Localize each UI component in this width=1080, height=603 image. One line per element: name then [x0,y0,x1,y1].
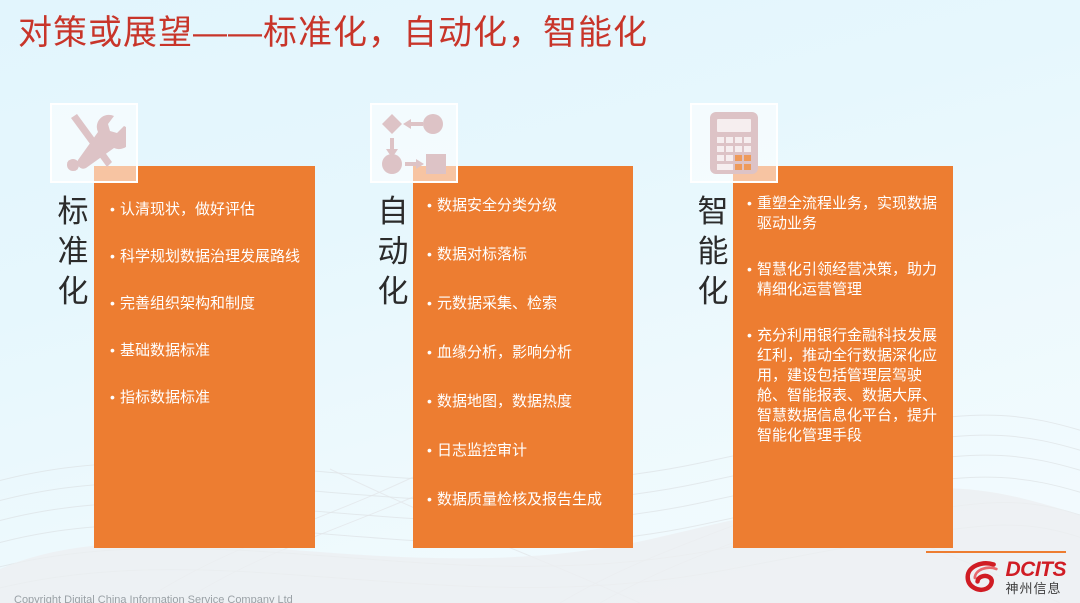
flowchart-icon [381,112,447,174]
bullet-item: 数据安全分类分级 [427,196,621,216]
logo-text-en: DCITS [1006,559,1067,580]
bullet-item: 认清现状，做好评估 [110,200,301,220]
column-label-char: 化 [372,272,414,312]
logo-text-cn: 神州信息 [1006,582,1067,595]
footer-divider [926,551,1066,553]
tools-wrench-screwdriver-icon [62,112,126,174]
slide-canvas: 对策或展望——标准化，自动化，智能化 标 准 化 认清现状，做好评估 [0,0,1080,603]
column-label-char: 标 [52,192,94,232]
bullet-list-intelligence: 重塑全流程业务，实现数据驱动业务 智慧化引领经营决策，助力精细化运营管理 充分利… [733,166,953,446]
column-label-char: 智 [692,192,734,232]
bullet-item: 血缘分析，影响分析 [427,343,621,363]
dcits-swirl-logo-icon [964,560,1000,594]
column-label-char: 自 [372,192,414,232]
bullet-item: 智慧化引领经营决策，助力精细化运营管理 [747,260,941,300]
bullet-item: 重塑全流程业务，实现数据驱动业务 [747,194,941,234]
bullet-item: 充分利用银行金融科技发展红利，推动全行数据深化应用，建设包括管理层驾驶舱、智能报… [747,326,941,446]
column-label-char: 化 [692,272,734,312]
column-label-char: 能 [692,232,734,272]
bullet-item: 数据对标落标 [427,245,621,265]
copyright-text: Copyright Digital China Information Serv… [14,594,293,603]
panel-automation: 数据安全分类分级 数据对标落标 元数据采集、检索 血缘分析，影响分析 数据地图，… [413,166,633,548]
bullet-item: 完善组织架构和制度 [110,294,301,314]
column-label-automation: 自 动 化 [372,192,414,312]
bullet-item: 数据质量检核及报告生成 [427,490,621,510]
calculator-icon [709,111,759,175]
bullet-item: 指标数据标准 [110,388,301,408]
column-label-char: 动 [372,232,414,272]
calculator-icon-box [690,103,778,183]
bullet-item: 基础数据标准 [110,341,301,361]
bullet-item: 日志监控审计 [427,441,621,461]
dcits-logo: DCITS 神州信息 [964,557,1067,597]
bullet-list-automation: 数据安全分类分级 数据对标落标 元数据采集、检索 血缘分析，影响分析 数据地图，… [413,166,633,510]
bullet-item: 数据地图，数据热度 [427,392,621,412]
panel-intelligence: 重塑全流程业务，实现数据驱动业务 智慧化引领经营决策，助力精细化运营管理 充分利… [733,166,953,548]
column-label-char: 化 [52,272,94,312]
bullet-item: 科学规划数据治理发展路线 [110,247,301,267]
column-label-char: 准 [52,232,94,272]
column-label-intelligence: 智 能 化 [692,192,734,312]
bullet-item: 元数据采集、检索 [427,294,621,314]
flowchart-icon-box [370,103,458,183]
panel-standardization: 认清现状，做好评估 科学规划数据治理发展路线 完善组织架构和制度 基础数据标准 … [94,166,315,548]
column-label-standardization: 标 准 化 [52,192,94,312]
tools-wrench-screwdriver-icon-box [50,103,138,183]
bullet-list-standardization: 认清现状，做好评估 科学规划数据治理发展路线 完善组织架构和制度 基础数据标准 … [94,166,315,408]
page-title: 对策或展望——标准化，自动化，智能化 [18,12,648,54]
